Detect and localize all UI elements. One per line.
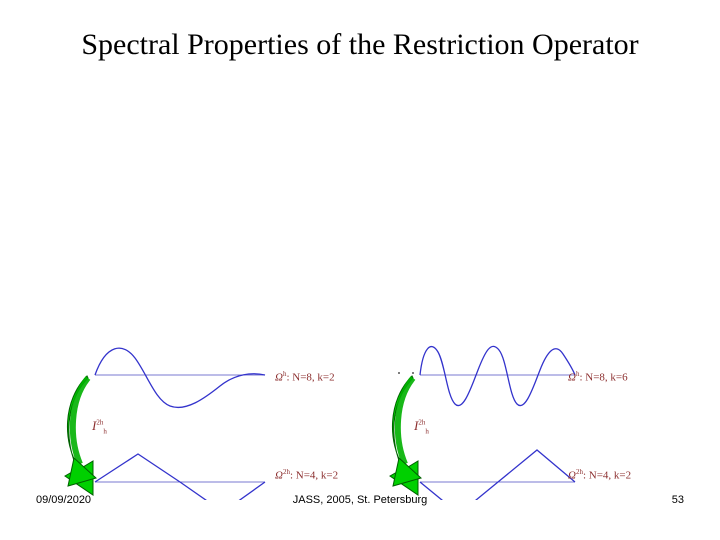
right-bottom-omega-sup: 2h bbox=[576, 468, 583, 476]
left-top-domain-label: Ωh: N=8, k=2 bbox=[275, 370, 335, 384]
right-top-curve bbox=[420, 346, 575, 405]
left-restriction-operator-label: I2hh bbox=[92, 418, 107, 436]
right-bottom-curve bbox=[420, 450, 575, 500]
figure-area: Ωh: N=8, k=2 Ω2h: N=4, k=2 I2hh bbox=[0, 330, 720, 500]
right-top-omega-symbol: Ω bbox=[568, 372, 576, 384]
right-top-domain-text: : N=8, k=6 bbox=[579, 372, 627, 384]
left-bottom-domain-label: Ω2h: N=4, k=2 bbox=[275, 468, 338, 482]
right-operator-sup: 2h bbox=[418, 419, 425, 427]
left-bottom-domain-text: : N=4, k=2 bbox=[290, 470, 338, 482]
footer-page-number: 53 bbox=[672, 494, 684, 506]
right-top-domain-label: Ωh: N=8, k=6 bbox=[568, 370, 628, 384]
slide-root: Spectral Properties of the Restriction O… bbox=[0, 0, 720, 540]
footer-center-text: JASS, 2005, St. Petersburg bbox=[0, 494, 720, 506]
left-operator-sub: h bbox=[103, 428, 107, 436]
left-top-curve bbox=[95, 348, 265, 407]
left-bottom-omega-symbol: Ω bbox=[275, 470, 283, 482]
right-operator-sub: h bbox=[425, 428, 429, 436]
right-bottom-domain-label: Ω2h: N=4, k=2 bbox=[568, 468, 631, 482]
page-title: Spectral Properties of the Restriction O… bbox=[36, 26, 684, 63]
slide-footer: 09/09/2020 JASS, 2005, St. Petersburg 53 bbox=[0, 494, 720, 514]
right-bottom-domain-text: : N=4, k=2 bbox=[583, 470, 631, 482]
right-restriction-operator-label: I2hh bbox=[414, 418, 429, 436]
right-bottom-omega-symbol: Ω bbox=[568, 470, 576, 482]
left-top-domain-text: : N=8, k=2 bbox=[286, 372, 334, 384]
left-operator-sup: 2h bbox=[96, 419, 103, 427]
left-top-omega-symbol: Ω bbox=[275, 372, 283, 384]
left-bottom-omega-sup: 2h bbox=[283, 468, 290, 476]
